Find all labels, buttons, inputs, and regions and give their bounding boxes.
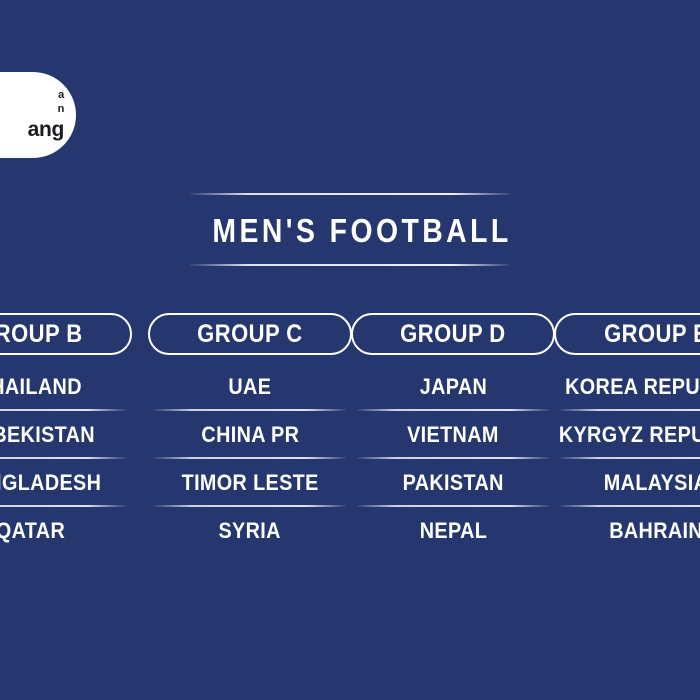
logo-line-2: n [58,104,64,115]
team-row: TIMOR LESTE [148,459,352,507]
group-header-e: GROUP E [554,313,700,355]
team-row: BANGLADESH [0,459,132,507]
team-row: QATAR [0,507,132,555]
graphic-canvas: a n ang MEN'S FOOTBALL GROUP B THAILAND … [0,0,700,700]
team-name: JAPAN [419,376,486,398]
publisher-logo: a n ang [0,72,76,158]
team-row: MALAYSIA [554,459,700,507]
group-header-b: GROUP B [0,313,132,355]
group-header-label: GROUP B [0,322,83,347]
team-row: KYRGYZ REPUBLIC [554,411,700,459]
team-row: UZBEKISTAN [0,411,132,459]
team-name: CHINA PR [201,424,299,446]
team-name: VIETNAM [407,424,499,446]
team-name: SYRIA [219,520,281,542]
group-header-c: GROUP C [148,313,352,355]
team-row: NEPAL [351,507,555,555]
title-block: MEN'S FOOTBALL [190,193,510,266]
team-name: KYRGYZ REPUBLIC [559,424,700,446]
logo-line-3: ang [28,119,64,140]
team-list-d: JAPAN VIETNAM PAKISTAN NEPAL [351,363,555,555]
group-header-label: GROUP D [400,322,505,347]
page-title: MEN'S FOOTBALL [212,195,487,264]
team-name: BANGLADESH [0,472,102,494]
team-row: CHINA PR [148,411,352,459]
logo-line-1: a [58,90,64,101]
team-name: KOREA REPUBLIC [565,376,700,398]
team-row: BAHRAIN [554,507,700,555]
team-list-b: THAILAND UZBEKISTAN BANGLADESH QATAR [0,363,132,555]
team-name: TIMOR LESTE [181,472,318,494]
group-columns: GROUP B THAILAND UZBEKISTAN BANGLADESH Q… [0,313,700,553]
group-header-label: GROUP E [604,322,700,347]
team-name: PAKISTAN [402,472,503,494]
group-column-d: GROUP D JAPAN VIETNAM PAKISTAN NEPAL [351,313,555,571]
team-row: KOREA REPUBLIC [554,363,700,411]
group-column-c: GROUP C UAE CHINA PR TIMOR LESTE SYRIA [148,313,352,571]
group-header-label: GROUP C [197,322,302,347]
group-header-d: GROUP D [351,313,555,355]
team-name: THAILAND [0,376,82,398]
team-list-e: KOREA REPUBLIC KYRGYZ REPUBLIC MALAYSIA … [554,363,700,555]
team-row: UAE [148,363,352,411]
team-name: UAE [229,376,272,398]
team-name: QATAR [0,520,65,542]
team-row: JAPAN [351,363,555,411]
group-column-b: GROUP B THAILAND UZBEKISTAN BANGLADESH Q… [0,313,132,571]
team-name: BAHRAIN [609,520,700,542]
team-row: SYRIA [148,507,352,555]
team-row: THAILAND [0,363,132,411]
team-list-c: UAE CHINA PR TIMOR LESTE SYRIA [148,363,352,555]
team-name: NEPAL [419,520,486,542]
team-row: VIETNAM [351,411,555,459]
title-rule-bottom [190,264,510,266]
team-row: PAKISTAN [351,459,555,507]
team-name: MALAYSIA [604,472,700,494]
group-column-e: GROUP E KOREA REPUBLIC KYRGYZ REPUBLIC M… [554,313,700,571]
team-name: UZBEKISTAN [0,424,95,446]
